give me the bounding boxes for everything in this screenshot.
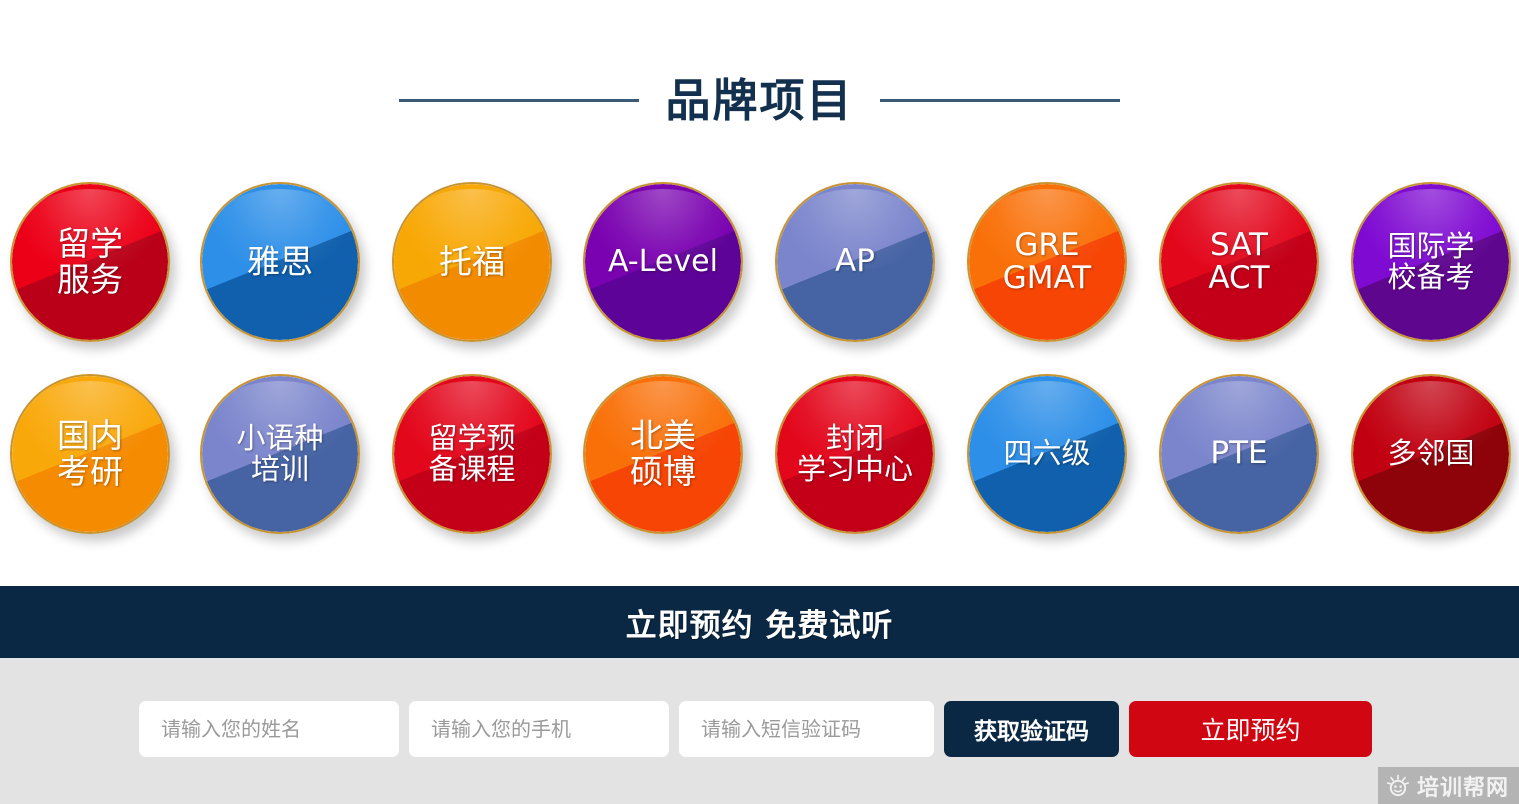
program-bubble[interactable]: 北美 硕博 [583,374,743,534]
program-bubble[interactable]: PTE [1159,374,1319,534]
program-bubble-label: 小语种 培训 [230,423,329,486]
page-title: 品牌项目 [665,78,853,123]
appointment-form: 获取验证码 立即预约 [0,658,1519,804]
program-bubble[interactable]: 托福 [392,182,552,342]
program-bubble[interactable]: 封闭 学习中心 [775,374,935,534]
program-bubble[interactable]: 留学 服务 [10,182,170,342]
program-bubble[interactable]: 小语种 培训 [200,374,360,534]
program-bubble[interactable]: GRE GMAT [967,182,1127,342]
program-bubble[interactable]: SAT ACT [1159,182,1319,342]
submit-appointment-button[interactable]: 立即预约 [1129,701,1372,757]
phone-input[interactable] [409,701,669,757]
program-row-2: 国内 考研小语种 培训留学预 备课程北美 硕博封闭 学习中心四六级PTE多邻国 [0,368,1519,560]
program-bubble-label: 托福 [433,244,511,280]
page-header: 品牌项目 [0,62,1519,138]
name-input[interactable] [139,701,399,757]
program-bubble[interactable]: 雅思 [200,182,360,342]
brand-programs-page: 品牌项目 留学 服务雅思托福A-LevelAPGRE GMATSAT ACT国际… [0,0,1519,804]
program-bubble-label: GRE GMAT [997,229,1098,296]
program-row-1: 留学 服务雅思托福A-LevelAPGRE GMATSAT ACT国际学 校备考 [0,176,1519,368]
program-bubble-label: SAT ACT [1202,229,1275,296]
program-bubble-label: AP [829,245,881,278]
program-grid: 留学 服务雅思托福A-LevelAPGRE GMATSAT ACT国际学 校备考… [0,176,1519,560]
program-bubble-label: 多邻国 [1381,438,1480,469]
program-bubble[interactable]: 留学预 备课程 [392,374,552,534]
program-bubble[interactable]: A-Level [583,182,743,342]
program-bubble[interactable]: 多邻国 [1351,374,1511,534]
watermark-text: 培训帮网 [1417,770,1509,802]
program-bubble-label: 国际学 校备考 [1381,231,1480,294]
program-bubble[interactable]: 四六级 [967,374,1127,534]
appointment-banner-title: 立即预约 免费试听 [626,600,894,645]
smiley-sun-icon [1386,774,1410,798]
form-row: 获取验证码 立即预约 [139,701,1372,757]
program-bubble-label: A-Level [602,246,724,278]
program-bubble-label: 四六级 [997,438,1096,469]
program-bubble-label: 留学 服务 [51,226,129,297]
program-bubble-label: 雅思 [241,244,319,280]
site-watermark: 培训帮网 [1378,767,1519,804]
program-bubble-label: 封闭 学习中心 [791,423,919,486]
program-bubble-label: 北美 硕博 [624,418,702,489]
program-bubble[interactable]: AP [775,182,935,342]
program-bubble-label: 留学预 备课程 [422,423,521,486]
program-bubble[interactable]: 国际学 校备考 [1351,182,1511,342]
sms-code-input[interactable] [679,701,934,757]
title-rule-left [399,99,639,102]
title-rule-right [880,99,1120,102]
program-bubble-label: PTE [1204,437,1273,470]
program-bubble[interactable]: 国内 考研 [10,374,170,534]
get-code-button[interactable]: 获取验证码 [944,701,1119,757]
program-bubble-label: 国内 考研 [51,418,129,489]
appointment-banner: 立即预约 免费试听 [0,586,1519,658]
